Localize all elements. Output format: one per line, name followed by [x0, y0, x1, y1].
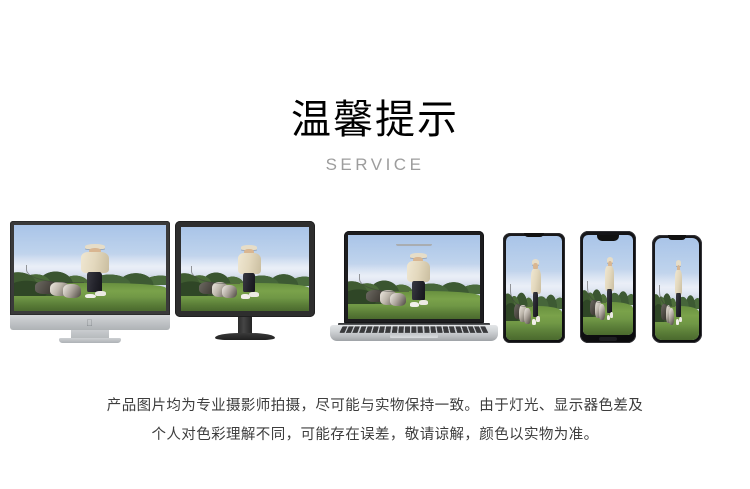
photo-person-shoe — [249, 292, 258, 297]
photo-dog — [524, 308, 531, 325]
photo-person — [531, 259, 542, 323]
laptop-screen — [348, 235, 480, 319]
photo-dog — [222, 285, 237, 298]
product-photo — [181, 227, 309, 311]
photo-person-pants — [412, 281, 425, 301]
disclaimer-line-2: 个人对色彩理解不同，可能存在误差，敬请谅解，颜色以实物为准。 — [0, 421, 750, 450]
photo-person-pants — [87, 272, 102, 292]
photo-person — [605, 257, 615, 319]
device-monitor — [175, 221, 315, 343]
imac-screen — [14, 225, 166, 311]
phone-medium-screen — [583, 235, 633, 335]
monitor-stand-foot — [215, 333, 275, 340]
device-phone-large — [503, 233, 565, 343]
phone-medium-home-button — [599, 337, 617, 341]
photo-foreground-shadow — [655, 324, 699, 340]
monitor-stand-neck — [238, 317, 252, 334]
apple-logo-icon:  — [86, 319, 94, 328]
phone-small-screen — [655, 238, 699, 340]
header: 温馨提示 SERVICE — [0, 0, 750, 175]
photo-person-jacket — [407, 261, 431, 282]
device-imac:  — [10, 221, 170, 343]
photo-foreground-shadow — [583, 319, 633, 335]
device-laptop — [330, 231, 498, 343]
phone-large-screen — [506, 236, 562, 340]
photo-person-pants — [676, 293, 680, 317]
device-phone-medium — [580, 231, 636, 343]
product-photo — [348, 235, 480, 319]
photo-person-shoe — [95, 291, 106, 296]
photo-foreground-shadow — [181, 298, 309, 311]
photo-person — [406, 253, 431, 305]
photo-person-pants — [243, 273, 256, 293]
page-subtitle: SERVICE — [0, 155, 750, 175]
phone-large-notch — [524, 233, 544, 237]
photo-foreground-shadow — [506, 323, 562, 340]
imac-bezel — [10, 221, 170, 315]
product-photo — [583, 235, 633, 335]
monitor-bezel — [175, 221, 315, 317]
photo-dog — [63, 284, 81, 298]
photo-person-pants — [533, 292, 539, 316]
photo-person-shoe — [679, 317, 682, 323]
imac-stand-foot — [59, 338, 121, 343]
promo-banner: 温馨提示 SERVICE — [0, 0, 750, 489]
photo-person — [81, 244, 110, 297]
photo-person-jacket — [531, 269, 541, 295]
laptop-base — [330, 325, 498, 341]
photo-person-jacket — [675, 270, 683, 295]
photo-person-shoe — [536, 316, 540, 322]
photo-person-jacket — [605, 266, 614, 291]
photo-person-pants — [607, 289, 612, 313]
photo-person — [237, 245, 261, 297]
photo-person-jacket — [81, 252, 108, 273]
disclaimer-line-1: 产品图片均为专业摄影师拍摄，尽可能与实物保持一致。由于灯光、显示器色差及 — [0, 392, 750, 421]
product-photo — [655, 238, 699, 340]
product-photo — [506, 236, 562, 340]
product-photo — [14, 225, 166, 311]
photo-foreground-shadow — [348, 306, 480, 319]
laptop-trackpad — [390, 334, 438, 338]
photo-person — [674, 260, 682, 323]
phone-medium-notch — [597, 235, 619, 241]
laptop-front-lip — [396, 244, 432, 246]
device-phone-small — [652, 235, 702, 343]
photo-person-shoe — [610, 312, 614, 318]
photo-foreground-shadow — [14, 297, 166, 311]
photo-dog — [390, 293, 406, 306]
disclaimer: 产品图片均为专业摄影师拍摄，尽可能与实物保持一致。由于灯光、显示器色差及 个人对… — [0, 392, 750, 450]
phone-small-notch — [668, 235, 686, 240]
photo-person-shoe — [419, 300, 429, 305]
page-title: 温馨提示 — [0, 98, 750, 142]
photo-person-jacket — [238, 253, 261, 274]
laptop-keyboard — [339, 326, 488, 332]
monitor-screen — [181, 227, 309, 311]
device-lineup:  — [0, 213, 750, 343]
